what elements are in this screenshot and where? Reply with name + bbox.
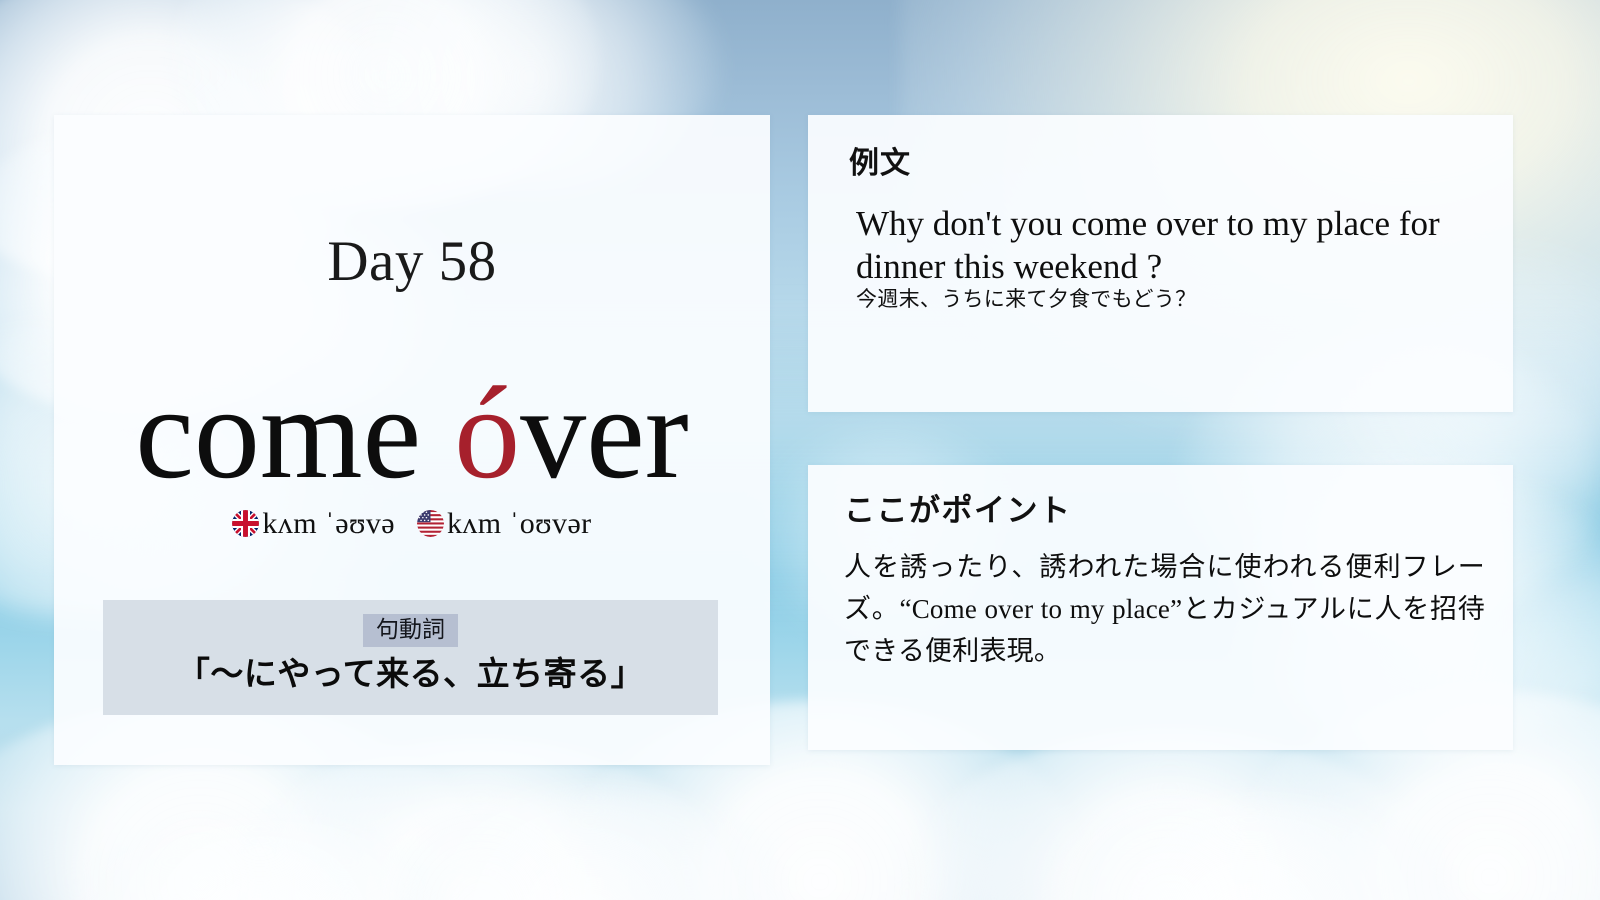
headword-suffix: ver [520,359,689,506]
definition-text: 「〜にやって来る、立ち寄る」 [103,656,718,696]
uk-ipa-text: kʌm ˈəʊvə [262,507,395,541]
word-card: Day 58 come óver kʌ [54,115,770,765]
us-ipa-text: kʌm ˈoʊvər [447,507,592,541]
example-card: 例文 Why don't you come over to my place f… [808,115,1513,412]
part-of-speech-badge: 句動詞 [103,614,718,647]
point-heading: ここがポイント [844,495,1072,526]
meaning-panel: 句動詞 「〜にやって来る、立ち寄る」 [103,600,718,715]
part-of-speech-label: 句動詞 [363,614,458,647]
point-body-text: 人を誘ったり、誘われた場合に使われる便利フレーズ。“Come over to m… [844,547,1485,673]
uk-flag-icon [232,510,259,537]
pronunciation-us: kʌm ˈoʊvər [417,507,592,541]
pronunciation-uk: kʌm ˈəʊvə [232,507,395,541]
us-flag-icon [417,510,444,537]
point-card: ここがポイント 人を誘ったり、誘われた場合に使われる便利フレーズ。“Come o… [808,465,1513,750]
headword-accent-char: ó [454,359,520,506]
example-sentence-japanese: 今週末、うちに来て夕食でもどう？ [856,285,1479,313]
day-label: Day 58 [54,233,770,290]
headword-prefix: come [135,359,454,506]
example-sentence-english: Why don't you come over to my place for … [856,203,1479,288]
example-heading: 例文 [849,149,911,179]
slide-stage: Day 58 come óver kʌ [0,0,1600,900]
headword: come óver [54,367,770,499]
pronunciation-row: kʌm ˈəʊvə [54,507,770,541]
